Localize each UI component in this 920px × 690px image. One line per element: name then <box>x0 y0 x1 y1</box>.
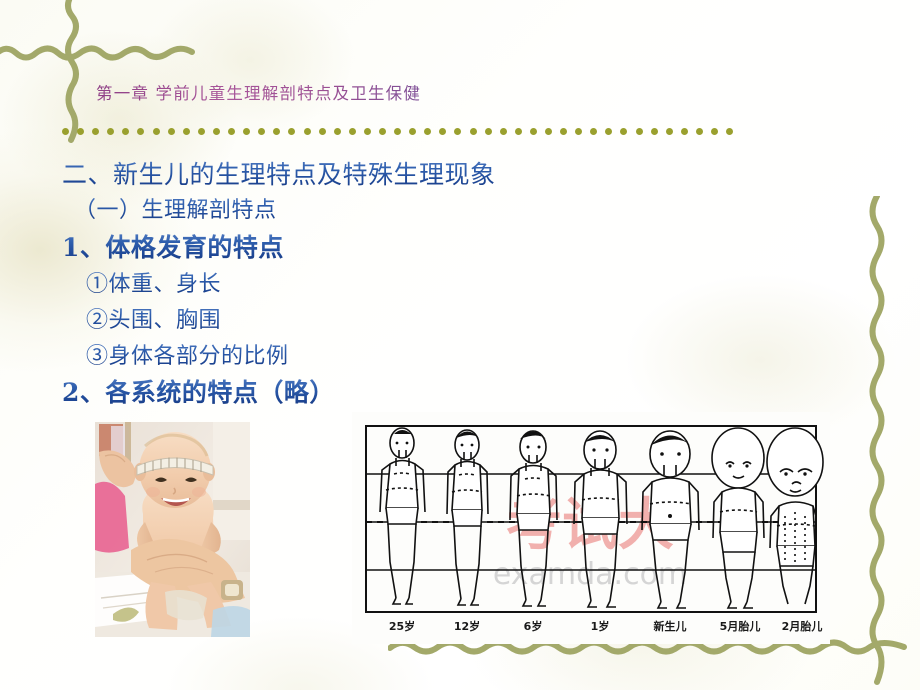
divider-dot <box>62 128 69 135</box>
decorative-wave-left <box>56 0 86 144</box>
chapter-title: 第一章 学前儿童生理解剖特点及卫生保健 <box>96 80 421 104</box>
divider-dot <box>137 128 144 135</box>
stage-label-0: 25岁 <box>389 619 415 633</box>
divider-dot <box>319 128 326 135</box>
divider-dot <box>590 128 597 135</box>
stage-label-5: 5月胎儿 <box>720 619 761 633</box>
slide-canvas: 第一章 学前儿童生理解剖特点及卫生保健 二、新生儿的生理特点及特殊生理现象 （一… <box>0 0 920 690</box>
divider-dot <box>349 128 356 135</box>
divider-dot <box>711 128 718 135</box>
divider-dot <box>681 128 688 135</box>
divider-dot <box>515 128 522 135</box>
body-line-1: 二、新生儿的生理特点及特殊生理现象 <box>62 155 496 191</box>
body-line-6: ③身体各部分的比例 <box>86 338 289 370</box>
body-line-4: ①体重、身长 <box>86 266 221 298</box>
divider-dot <box>334 128 341 135</box>
stage-label-2: 6岁 <box>524 619 543 633</box>
body-line-7: 2、各系统的特点（略） <box>62 373 335 409</box>
divider-dot <box>122 128 129 135</box>
divider-dot <box>485 128 492 135</box>
stage-label-4: 新生儿 <box>654 619 687 633</box>
divider-dot <box>183 128 190 135</box>
body-line-3: 1、体格发育的特点 <box>62 228 284 264</box>
body-line-5: ②头围、胸围 <box>86 302 221 334</box>
stage-label-1: 12岁 <box>454 619 480 633</box>
divider-dot <box>666 128 673 135</box>
divider-dot <box>726 128 733 135</box>
divider-dot <box>636 128 643 135</box>
divider-dot <box>454 128 461 135</box>
divider-dot <box>696 128 703 135</box>
divider-dot <box>394 128 401 135</box>
decorative-wave-right <box>862 196 892 686</box>
divider-dot <box>92 128 99 135</box>
divider-dot <box>304 128 311 135</box>
divider-dot <box>288 128 295 135</box>
dotted-divider <box>62 126 784 136</box>
divider-dot <box>575 128 582 135</box>
divider-dot <box>545 128 552 135</box>
divider-dot <box>424 128 431 135</box>
body-line-2: （一）生理解剖特点 <box>74 192 277 224</box>
divider-dot <box>500 128 507 135</box>
decorative-wave-top <box>0 36 196 66</box>
divider-dot <box>258 128 265 135</box>
divider-dot <box>153 128 160 135</box>
baby-measurement-photo <box>95 422 250 637</box>
divider-dot <box>273 128 280 135</box>
divider-dot <box>213 128 220 135</box>
divider-dot <box>530 128 537 135</box>
divider-dot <box>168 128 175 135</box>
divider-dot <box>560 128 567 135</box>
divider-dot <box>198 128 205 135</box>
stage-label-3: 1岁 <box>591 619 610 633</box>
divider-dot <box>651 128 658 135</box>
divider-dot <box>409 128 416 135</box>
divider-dot <box>243 128 250 135</box>
divider-dot <box>439 128 446 135</box>
divider-dot <box>620 128 627 135</box>
stage-label-6: 2月胎儿 <box>782 619 823 633</box>
divider-dot <box>107 128 114 135</box>
divider-dot <box>77 128 84 135</box>
divider-dot <box>605 128 612 135</box>
divider-dot <box>470 128 477 135</box>
divider-dot <box>228 128 235 135</box>
body-proportions-diagram: 考试大 examda.com <box>352 412 830 644</box>
divider-dot <box>364 128 371 135</box>
divider-dot <box>379 128 386 135</box>
